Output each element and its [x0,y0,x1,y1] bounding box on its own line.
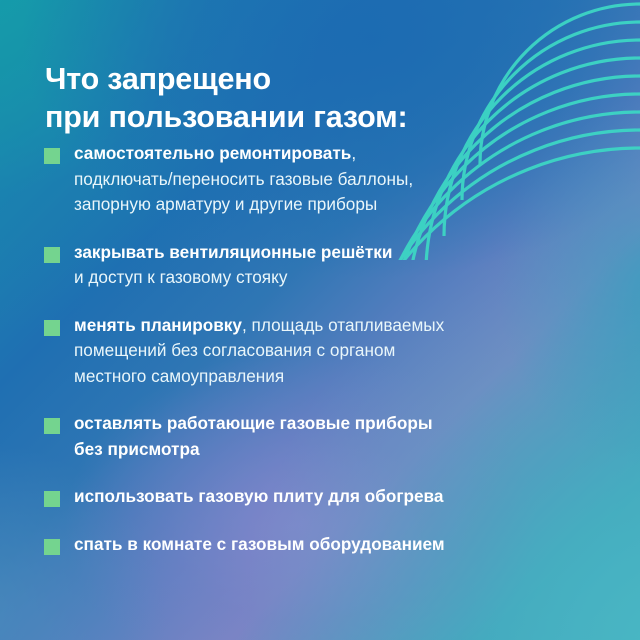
list-item-text: спать в комнате с газовым оборудованием [74,532,604,558]
list-item-text: закрывать вентиляционные решётки и досту… [74,240,604,291]
page-title: Что запрещено при пользовании газом: [45,60,565,136]
list-item: спать в комнате с газовым оборудованием [44,532,604,558]
list-item: закрывать вентиляционные решётки и досту… [44,240,604,291]
list-item-text: использовать газовую плиту для обогрева [74,484,604,510]
list-item-emphasis: оставлять работающие газовые приборы без… [74,413,433,459]
list-item: менять планировку, площадь отапливаемых … [44,313,604,390]
list-item-emphasis: менять планировку [74,315,242,335]
list-item-text: оставлять работающие газовые приборы без… [74,411,604,462]
list-item-detail: и доступ к газовому стояку [74,267,287,287]
list-item: оставлять работающие газовые приборы без… [44,411,604,462]
poster-canvas: Что запрещено при пользовании газом: сам… [0,0,640,640]
list-item: использовать газовую плиту для обогрева [44,484,604,510]
green-square-bullet-icon [44,539,60,555]
green-square-bullet-icon [44,148,60,164]
green-square-bullet-icon [44,320,60,336]
green-square-bullet-icon [44,247,60,263]
poster-content: Что запрещено при пользовании газом: сам… [0,0,640,640]
list-item-emphasis: закрывать вентиляционные решётки [74,242,392,262]
list-item-text: менять планировку, площадь отапливаемых … [74,313,604,390]
prohibition-list: самостоятельно ремонтировать, подключать… [44,141,604,557]
list-item-emphasis: использовать газовую плиту для обогрева [74,486,443,506]
list-item-text: самостоятельно ремонтировать, подключать… [74,141,604,218]
list-item-emphasis: самостоятельно ремонтировать [74,143,351,163]
list-item: самостоятельно ремонтировать, подключать… [44,141,604,218]
list-item-emphasis: спать в комнате с газовым оборудованием [74,534,445,554]
green-square-bullet-icon [44,418,60,434]
green-square-bullet-icon [44,491,60,507]
